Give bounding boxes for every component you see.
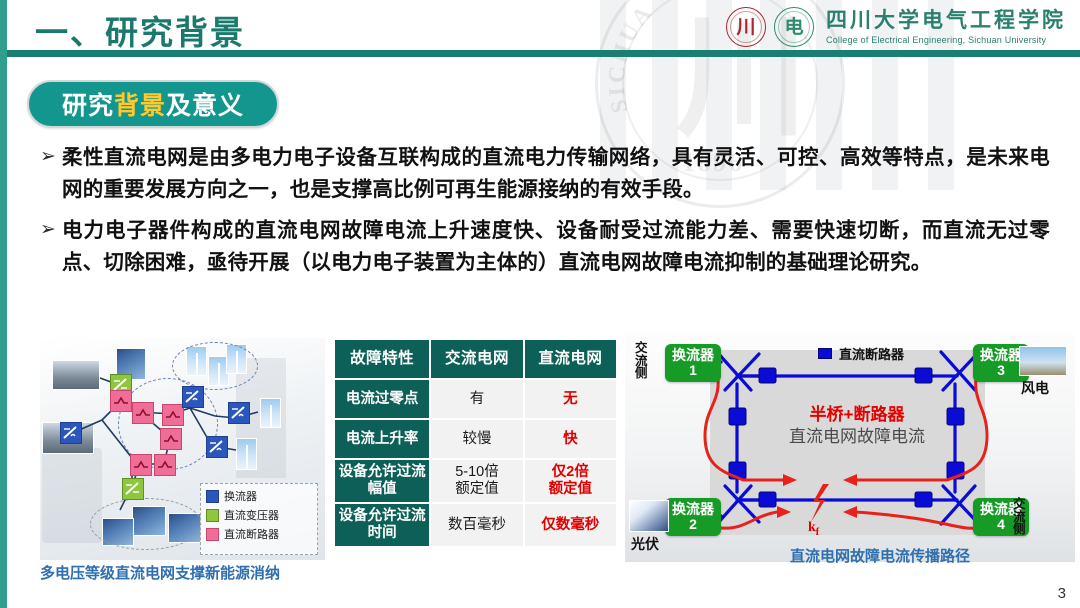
dc-breaker-node bbox=[132, 402, 154, 424]
bullet-text: 柔性直流电网是由多电力电子设备互联构成的直流电力传输网络，具有灵活、可控、高效等… bbox=[62, 142, 1050, 207]
cell-dc: 无 bbox=[525, 380, 616, 418]
converter-label: 换流器 bbox=[665, 502, 721, 517]
header-divider bbox=[6, 50, 1080, 57]
legend-item-dc-transformer: 直流变压器 bbox=[206, 507, 312, 523]
converter-box-2: 换流器 2 bbox=[665, 498, 721, 536]
row-label: 设备允许过流时间 bbox=[335, 504, 429, 546]
table-row: 电流过零点 有 无 bbox=[335, 380, 616, 418]
comparison-table: 故障特性 交流电网 直流电网 电流过零点 有 无 电流上升率 较慢 快 设备允许… bbox=[333, 338, 618, 548]
table-row: 设备允许过流时间 数百毫秒 仅数毫秒 bbox=[335, 504, 616, 546]
ac-side-label-bottom-right: 交流侧 bbox=[1013, 498, 1027, 536]
pv-power-label: 光伏 bbox=[631, 534, 659, 554]
fault-bolt-icon bbox=[811, 484, 829, 522]
dc-breaker-node bbox=[130, 454, 152, 476]
column-header-characteristic: 故障特性 bbox=[335, 340, 429, 378]
cell-ac: 5-10倍 额定值 bbox=[431, 460, 522, 502]
table-row: 设备允许过流幅值 5-10倍 额定值 仅2倍 额定值 bbox=[335, 460, 616, 502]
cell-dc: 快 bbox=[525, 420, 616, 458]
cell-ac: 较慢 bbox=[431, 420, 522, 458]
converter-number: 2 bbox=[665, 517, 721, 532]
network-figure-caption: 多电压等级直流电网支撑新能源消纳 bbox=[40, 562, 340, 583]
bullet-item: ➢ 柔性直流电网是由多电力电子设备互联构成的直流电力传输网络，具有灵活、可控、高… bbox=[40, 142, 1050, 207]
converter-number: 1 bbox=[665, 363, 721, 378]
diagram-caption: 直流电网故障电流传播路径 bbox=[730, 545, 1030, 566]
section-badge-text-highlight: 背景 bbox=[114, 86, 166, 122]
legend-label: 换流器 bbox=[224, 488, 257, 504]
legend-item-dc-breaker: 直流断路器 bbox=[206, 526, 312, 542]
bullet-marker-icon: ➢ bbox=[40, 215, 62, 244]
row-label: 电流过零点 bbox=[335, 380, 429, 418]
converter-node bbox=[206, 436, 228, 458]
page-title: 一、研究背景 bbox=[35, 6, 245, 54]
dc-transformer-swatch-icon bbox=[206, 509, 219, 522]
fault-current-diagram: 换流器 1 换流器 2 换流器 3 换流器 4 交流侧 交流侧 风电 光伏 bbox=[625, 332, 1075, 574]
column-header-ac-grid: 交流电网 bbox=[431, 340, 522, 378]
row-label: 电流上升率 bbox=[335, 420, 429, 458]
converter-node bbox=[182, 386, 204, 408]
section-badge-text-after: 及意义 bbox=[166, 86, 244, 122]
converter-box-1: 换流器 1 bbox=[665, 344, 721, 382]
dc-transformer-node bbox=[122, 478, 144, 500]
table-header-row: 故障特性 交流电网 直流电网 bbox=[335, 340, 616, 378]
converter-swatch-icon bbox=[206, 490, 219, 503]
legend-label: 直流变压器 bbox=[224, 507, 279, 523]
section-badge-text-before: 研究 bbox=[62, 86, 114, 122]
cell-ac: 数百毫秒 bbox=[431, 504, 522, 546]
slide: SICHUAN 川 1896 一、研究背景 川 电 四川大学电气工程学院 Col… bbox=[0, 0, 1080, 608]
bullet-text: 电力电子器件构成的直流电网故障电流上升速度快、设备耐受过流能力差、需要快速切断，… bbox=[62, 215, 1050, 280]
fault-point-label: kf bbox=[808, 520, 819, 538]
institution-name-cn: 四川大学电气工程学院 bbox=[826, 9, 1066, 32]
cell-ac: 有 bbox=[431, 380, 522, 418]
college-seal-icon: 电 bbox=[774, 7, 814, 47]
dc-breaker-swatch-icon bbox=[818, 348, 832, 359]
institution-logos: 川 电 四川大学电气工程学院 College of Electrical Eng… bbox=[726, 4, 1066, 50]
converter-node bbox=[60, 422, 82, 444]
legend-label: 直流断路器 bbox=[224, 526, 279, 542]
diagram-legend-dc-breaker: 直流断路器 bbox=[818, 344, 904, 363]
legend-item-converter: 换流器 bbox=[206, 488, 312, 504]
converter-node bbox=[228, 402, 250, 424]
table-row: 电流上升率 较慢 快 bbox=[335, 420, 616, 458]
network-legend: 换流器 直流变压器 直流断路器 bbox=[200, 483, 318, 555]
column-header-dc-grid: 直流电网 bbox=[525, 340, 616, 378]
slide-left-accent-bar bbox=[0, 0, 7, 608]
ac-side-label-top-left: 交流侧 bbox=[635, 342, 649, 380]
bullet-list: ➢ 柔性直流电网是由多电力电子设备互联构成的直流电力传输网络，具有灵活、可控、高… bbox=[40, 142, 1050, 288]
bullet-marker-icon: ➢ bbox=[40, 142, 62, 171]
cell-dc: 仅2倍 额定值 bbox=[525, 460, 616, 502]
figures-row: 换流器 直流变压器 直流断路器 多电压等级直流电网支撑新能源消纳 故障特性 交流… bbox=[0, 330, 1080, 608]
dc-grid-network-figure: 换流器 直流变压器 直流断路器 bbox=[40, 338, 325, 560]
diagram-center-subtitle: 直流电网故障电流 bbox=[767, 422, 947, 447]
sichuan-university-seal-icon: 川 bbox=[726, 7, 766, 47]
institution-name-block: 四川大学电气工程学院 College of Electrical Enginee… bbox=[826, 9, 1066, 44]
row-label: 设备允许过流幅值 bbox=[335, 460, 429, 502]
converter-label: 换流器 bbox=[665, 348, 721, 363]
dc-breaker-node bbox=[162, 404, 184, 426]
diagram-legend-label: 直流断路器 bbox=[839, 344, 904, 363]
pv-plant-thumbnail bbox=[629, 500, 669, 532]
bullet-item: ➢ 电力电子器件构成的直流电网故障电流上升速度快、设备耐受过流能力差、需要快速切… bbox=[40, 215, 1050, 280]
wind-power-label: 风电 bbox=[1021, 378, 1049, 398]
wind-farm-thumbnail bbox=[1019, 346, 1067, 376]
dc-breaker-swatch-icon bbox=[206, 528, 219, 541]
institution-name-en: College of Electrical Engineering, Sichu… bbox=[826, 35, 1066, 45]
dc-breaker-node bbox=[160, 428, 182, 450]
dc-breaker-node bbox=[154, 454, 176, 476]
section-badge: 研究背景及意义 bbox=[27, 80, 279, 128]
cell-dc: 仅数毫秒 bbox=[525, 504, 616, 546]
dc-breaker-node bbox=[110, 390, 132, 412]
page-number: 3 bbox=[1058, 585, 1066, 602]
